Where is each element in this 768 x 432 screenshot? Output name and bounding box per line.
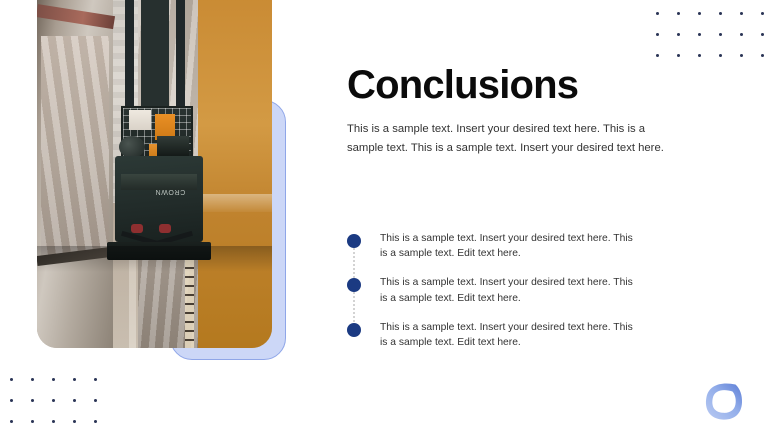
dot — [719, 54, 722, 57]
bullet-dot-icon — [347, 323, 361, 337]
list-item-text: This is a sample text. Insert your desir… — [380, 320, 642, 350]
list-item-text: This is a sample text. Insert your desir… — [380, 231, 642, 261]
dot — [10, 378, 13, 381]
dot — [52, 378, 55, 381]
photo-white-parcel — [129, 110, 151, 130]
dot — [52, 420, 55, 423]
dot — [31, 420, 34, 423]
dot-grid-top-right-icon — [656, 12, 764, 57]
dot — [94, 399, 97, 402]
dot — [31, 378, 34, 381]
dot — [698, 12, 701, 15]
bullet-connector-line — [353, 248, 355, 280]
dot — [740, 12, 743, 15]
dot — [94, 378, 97, 381]
dot — [761, 54, 764, 57]
bullet-dot-icon — [347, 234, 361, 248]
dot — [698, 33, 701, 36]
photo-forklift-brand-text: CROWN — [155, 188, 185, 195]
dot — [719, 12, 722, 15]
photo-ground-shadow — [37, 246, 272, 272]
page-title: Conclusions — [347, 64, 687, 106]
list-item-text: This is a sample text. Insert your desir… — [380, 275, 642, 305]
bullet-marker-wrap — [347, 275, 380, 292]
photo-forklift-light-left — [131, 224, 143, 233]
dot — [719, 33, 722, 36]
photo-orange-column-band — [198, 194, 272, 212]
brand-logo-icon — [701, 379, 747, 423]
list-item[interactable]: This is a sample text. Insert your desir… — [347, 231, 647, 261]
dot — [656, 12, 659, 15]
dot — [656, 54, 659, 57]
dot — [656, 33, 659, 36]
dot — [73, 420, 76, 423]
dot — [31, 399, 34, 402]
photo-forklift-drum — [119, 136, 145, 158]
list-item[interactable]: This is a sample text. Insert your desir… — [347, 320, 647, 350]
bullet-connector-line — [353, 292, 355, 324]
dot — [677, 54, 680, 57]
dot-grid-bottom-left-icon — [10, 378, 97, 423]
photo-orange-column — [198, 0, 272, 348]
bullet-dot-icon — [347, 278, 361, 292]
dot — [677, 12, 680, 15]
dot — [698, 54, 701, 57]
warehouse-photo: CROWN — [37, 0, 272, 348]
dot — [761, 12, 764, 15]
list-item[interactable]: This is a sample text. Insert your desir… — [347, 275, 647, 305]
dot — [52, 399, 55, 402]
bullet-marker-wrap — [347, 231, 380, 248]
bullet-marker-wrap — [347, 320, 380, 337]
slide-canvas: CROWN Conclusions This is a sample text.… — [0, 0, 768, 432]
photo-forklift-light-right — [159, 224, 171, 233]
dot — [761, 33, 764, 36]
content-column: Conclusions This is a sample text. Inser… — [347, 64, 687, 158]
dot — [94, 420, 97, 423]
photo-left-wrapped-pallets — [41, 36, 109, 256]
dot — [73, 378, 76, 381]
dot — [740, 54, 743, 57]
dot — [10, 420, 13, 423]
dot — [677, 33, 680, 36]
intro-paragraph: This is a sample text. Insert your desir… — [347, 120, 672, 158]
dot — [73, 399, 76, 402]
dot — [740, 33, 743, 36]
photo-forklift-control-panel — [157, 136, 189, 156]
bullet-list: This is a sample text. Insert your desir… — [347, 231, 647, 350]
dot — [10, 399, 13, 402]
